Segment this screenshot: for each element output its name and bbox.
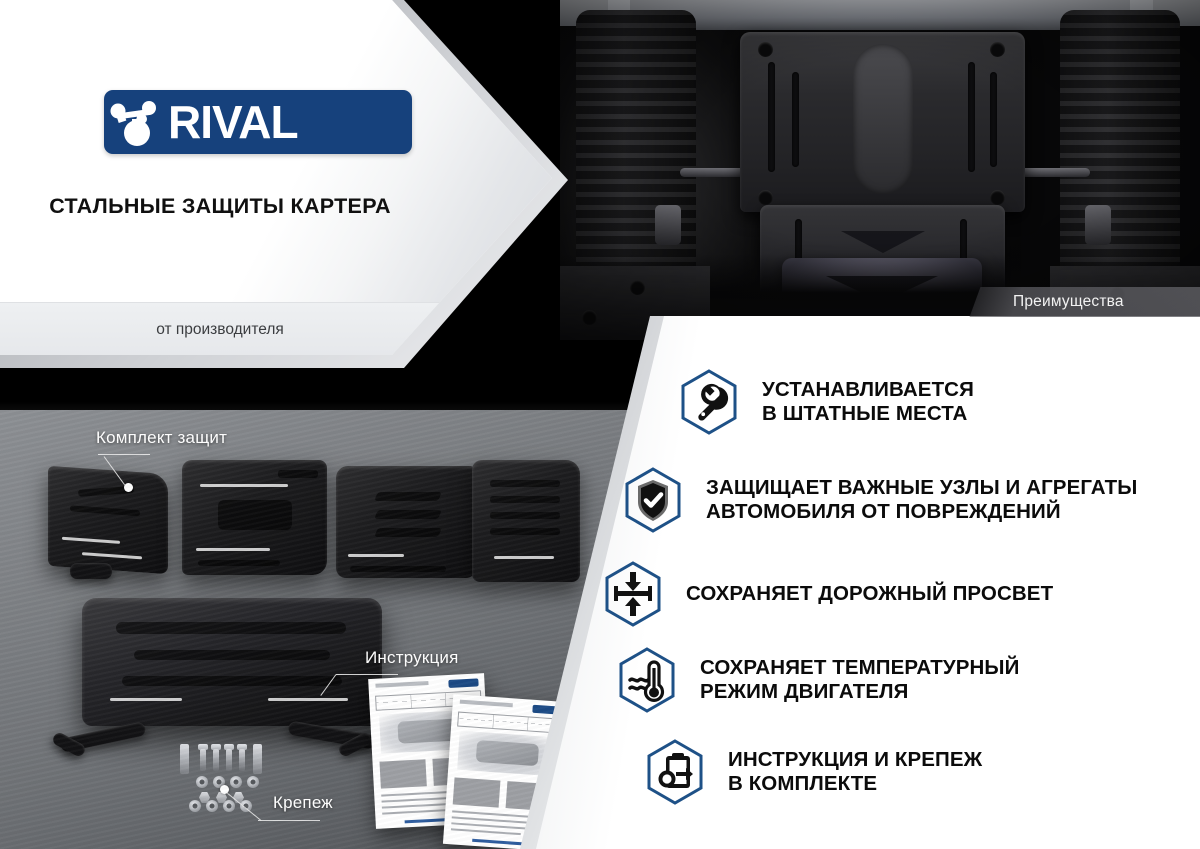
feature-label-clearance: СОХРАНЯЕТ ДОРОЖНЫЙ ПРОСВЕТ — [686, 582, 1053, 606]
skid-plate-2 — [182, 460, 327, 575]
feature-item-clearance: СОХРАНЯЕТ ДОРОЖНЫЙ ПРОСВЕТ — [602, 560, 1053, 628]
callout-hardware-dot — [220, 785, 229, 794]
feature-item-manual: ИНСТРУКЦИЯ И КРЕПЕЖ В КОМПЛЕКТЕ — [644, 738, 982, 806]
feature-label-install: УСТАНАВЛИВАЕТСЯ В ШТАТНЫЕ МЕСТА — [762, 378, 974, 426]
callout-hardware-label: Крепеж — [273, 793, 333, 813]
callout-kit-line-d — [104, 456, 129, 491]
callout-kit-dot — [124, 483, 133, 492]
callout-manual-line-d — [320, 674, 336, 696]
shield-check-icon — [622, 466, 684, 534]
promo-banner: Преимущества — [0, 0, 1200, 849]
callout-manual-line-h — [336, 674, 398, 675]
molecule-icon — [104, 97, 162, 147]
skid-plate-4 — [472, 460, 580, 582]
rival-logo-text: RIVAL — [168, 99, 298, 145]
skid-plate-1-tab — [70, 563, 112, 579]
callout-kit-line-h — [98, 454, 150, 455]
skid-plate-3 — [336, 466, 476, 578]
feature-label-temperature: СОХРАНЯЕТ ТЕМПЕРАТУРНЫЙ РЕЖИМ ДВИГАТЕЛЯ — [700, 656, 1019, 704]
feature-item-temperature: СОХРАНЯЕТ ТЕМПЕРАТУРНЫЙ РЕЖИМ ДВИГАТЕЛЯ — [616, 646, 1019, 714]
skid-plate-main-large — [82, 598, 382, 726]
callout-manual-label: Инструкция — [365, 648, 459, 668]
feature-item-protects: ЗАЩИЩАЕТ ВАЖНЫЕ УЗЛЫ И АГРЕГАТЫ АВТОМОБИ… — [622, 466, 1137, 534]
feature-label-protects: ЗАЩИЩАЕТ ВАЖНЫЕ УЗЛЫ И АГРЕГАТЫ АВТОМОБИ… — [706, 476, 1137, 524]
page-title: СТАЛЬНЫЕ ЗАЩИТЫ КАРТЕРА — [0, 194, 440, 219]
callout-hardware-line-d — [224, 790, 262, 821]
hero-subtitle: от производителя — [0, 321, 440, 339]
advantages-tab[interactable]: Преимущества — [970, 287, 1200, 317]
thermometer-icon — [616, 646, 678, 714]
mounting-bracket-left — [59, 721, 146, 753]
callout-hardware-line-h — [258, 820, 320, 821]
feature-item-install: УСТАНАВЛИВАЕТСЯ В ШТАТНЫЕ МЕСТА — [678, 368, 974, 436]
mounting-bracket-left-arm — [51, 731, 87, 758]
advantages-tab-label: Преимущества — [975, 293, 1124, 311]
mounting-bracket-right — [287, 720, 376, 749]
callout-kit-label: Комплект защит — [96, 428, 227, 448]
wrench-icon — [678, 368, 740, 436]
manual-hardware-icon — [644, 738, 706, 806]
ground-clearance-icon — [602, 560, 664, 628]
skid-plate-1 — [48, 466, 168, 574]
feature-label-manual: ИНСТРУКЦИЯ И КРЕПЕЖ В КОМПЛЕКТЕ — [728, 748, 982, 796]
mounting-bracket-right-arm — [337, 731, 373, 758]
hero-panel: RIVAL СТАЛЬНЫЕ ЗАЩИТЫ КАРТЕРА от произво… — [0, 0, 560, 355]
hardware-strip-right — [253, 744, 262, 774]
instruction-sheet-back — [368, 673, 492, 829]
rival-logo: RIVAL — [104, 90, 412, 154]
hardware-strip-left — [180, 744, 189, 774]
